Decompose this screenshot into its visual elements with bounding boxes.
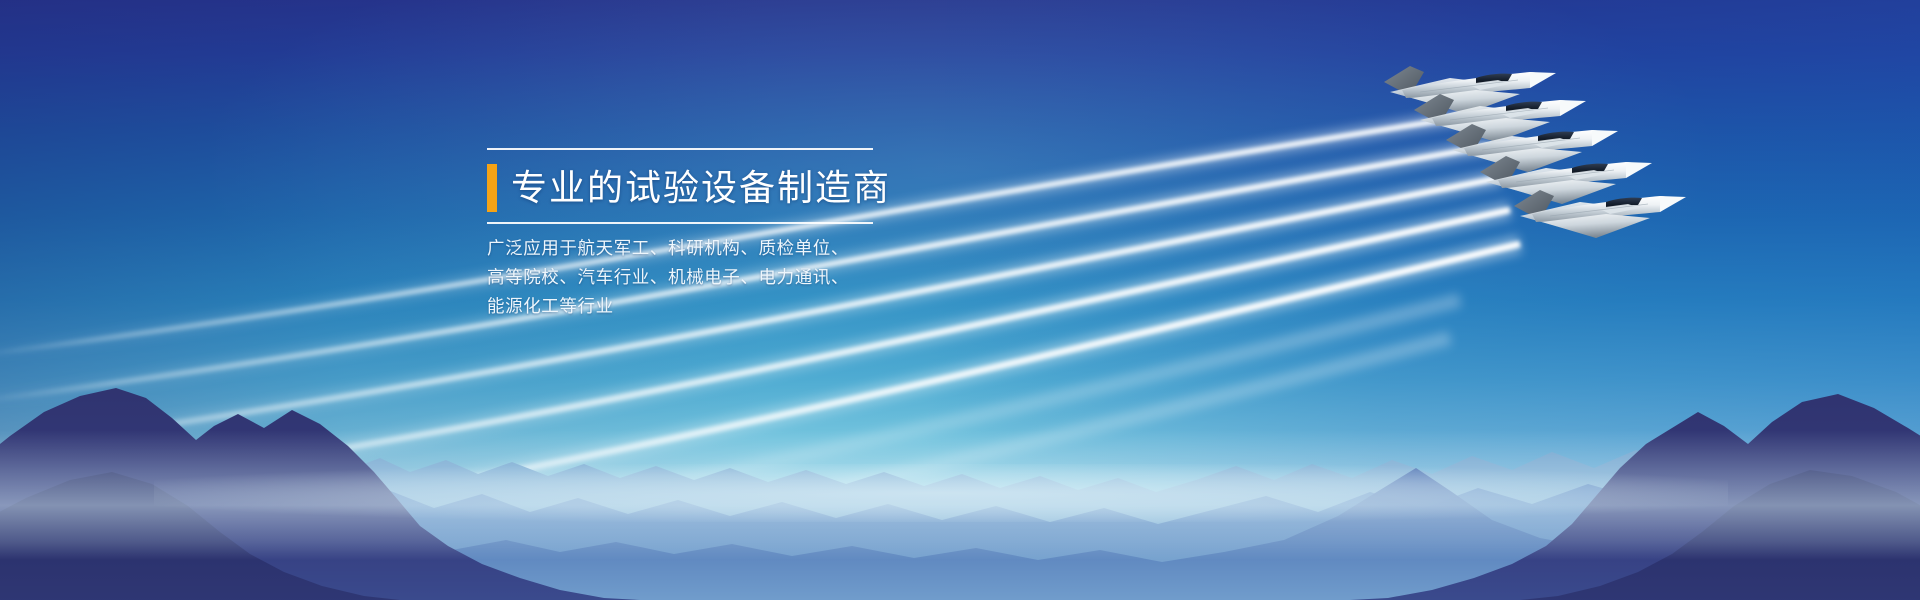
subtitle-line-1: 广泛应用于航天军工、科研机构、质检单位、: [487, 234, 917, 263]
subtitle-line-2: 高等院校、汽车行业、机械电子、电力通讯、: [487, 263, 917, 292]
hero-subtitle: 广泛应用于航天军工、科研机构、质检单位、 高等院校、汽车行业、机械电子、电力通讯…: [487, 234, 917, 321]
divider-bottom: [487, 222, 873, 224]
headline-row: 专业的试验设备制造商: [487, 162, 917, 214]
divider-top: [487, 148, 873, 150]
jet-formation: [1380, 48, 1860, 298]
subtitle-line-3: 能源化工等行业: [487, 292, 917, 321]
hero-headline: 专业的试验设备制造商: [511, 165, 891, 211]
hero-banner: 专业的试验设备制造商 广泛应用于航天军工、科研机构、质检单位、 高等院校、汽车行…: [0, 0, 1920, 600]
mountain-range: [0, 340, 1920, 600]
hero-copy: 专业的试验设备制造商 广泛应用于航天军工、科研机构、质检单位、 高等院校、汽车行…: [487, 148, 917, 321]
accent-bar: [487, 164, 497, 212]
